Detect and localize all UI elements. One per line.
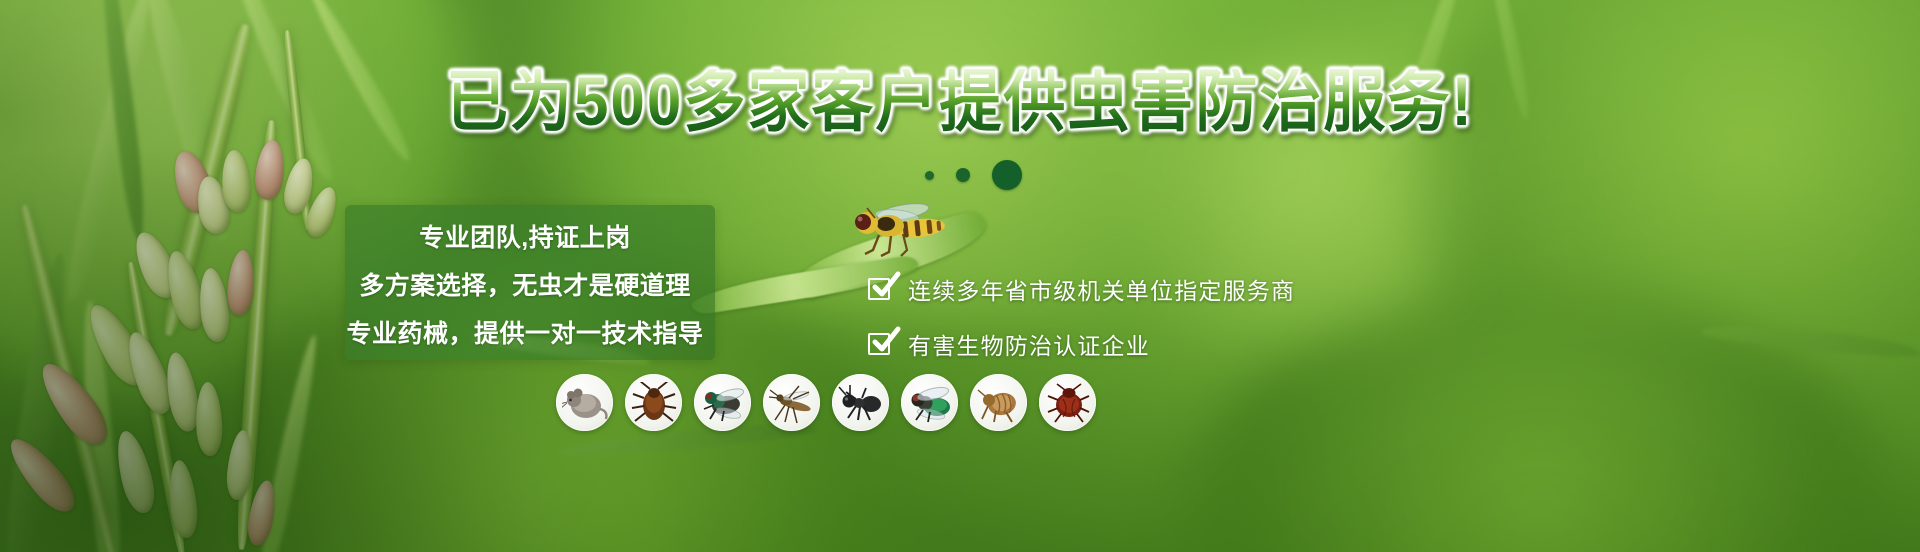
slogan-panel: 专业团队,持证上岗 多方案选择，无虫才是硬道理 专业药械，提供一对一技术指导	[345, 205, 715, 360]
promo-banner: 已为500多家客户提供虫害防治服务! 专业团队,持证上岗 多方案选择，无虫才是硬…	[0, 0, 1920, 552]
feature-list: 连续多年省市级机关单位指定服务商 有害生物防治认证企业	[868, 272, 1295, 361]
hoverfly-insect	[845, 198, 965, 260]
flea-icon[interactable]	[970, 374, 1027, 431]
housefly-icon[interactable]	[694, 374, 751, 431]
mosquito-icon[interactable]	[763, 374, 820, 431]
slogan-line-3: 专业药械，提供一对一技术指导	[345, 314, 705, 350]
feature-label: 连续多年省市级机关单位指定服务商	[908, 272, 1295, 306]
dot-medium-icon	[956, 168, 970, 182]
feature-item: 连续多年省市级机关单位指定服务商	[868, 272, 1295, 306]
rodent-icon[interactable]	[556, 374, 613, 431]
dot-large-icon	[992, 160, 1022, 190]
blowfly-icon[interactable]	[901, 374, 958, 431]
banner-headline: 已为500多家客户提供虫害防治服务!	[446, 69, 1474, 137]
decorative-dots	[26, 160, 1920, 190]
checkbox-checked-icon	[868, 276, 894, 302]
feature-label: 有害生物防治认证企业	[908, 327, 1150, 361]
checkbox-checked-icon	[868, 331, 894, 357]
slogan-line-1: 专业团队,持证上岗	[345, 218, 705, 254]
cockroach-icon[interactable]	[625, 374, 682, 431]
slogan-line-2: 多方案选择，无虫才是硬道理	[345, 266, 705, 302]
feature-item: 有害生物防治认证企业	[868, 327, 1295, 361]
pest-icon-row	[556, 374, 1096, 431]
headline-container: 已为500多家客户提供虫害防治服务!	[0, 72, 1920, 134]
bedbug-icon[interactable]	[1039, 374, 1096, 431]
ant-icon[interactable]	[832, 374, 889, 431]
dot-small-icon	[925, 171, 934, 180]
